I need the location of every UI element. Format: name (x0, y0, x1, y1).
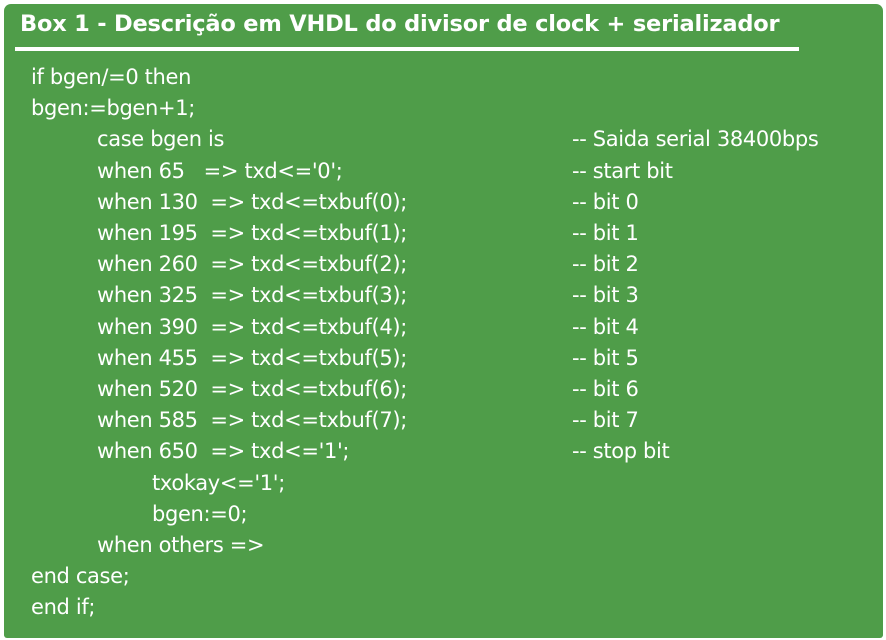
code-line: case bgen is-- Saida serial 38400bps (4, 124, 883, 155)
code-line-text: if bgen/=0 then (31, 62, 191, 93)
code-line-text: end case; (31, 561, 129, 592)
code-line-comment: -- bit 4 (572, 312, 638, 343)
code-line-comment: -- bit 7 (572, 405, 638, 436)
code-line-text: when 650 => txd<='1'; (97, 436, 349, 467)
code-line: when 650 => txd<='1';-- stop bit (4, 436, 883, 467)
code-line-comment: -- start bit (572, 156, 673, 187)
code-line-comment: -- bit 5 (572, 343, 638, 374)
code-line: when 260 => txd<=txbuf(2);-- bit 2 (4, 249, 883, 280)
code-line: when 455 => txd<=txbuf(5);-- bit 5 (4, 343, 883, 374)
code-line: when 65 => txd<='0';-- start bit (4, 156, 883, 187)
code-line-comment: -- stop bit (572, 436, 669, 467)
code-line: when 195 => txd<=txbuf(1);-- bit 1 (4, 218, 883, 249)
code-listing: if bgen/=0 thenbgen:=bgen+1;case bgen is… (4, 56, 883, 638)
code-box: Box 1 - Descrição em VHDL do divisor de … (4, 4, 883, 638)
code-line: end if; (4, 592, 883, 623)
code-line-text: txokay<='1'; (152, 468, 285, 499)
code-line-text: when 455 => txd<=txbuf(5); (97, 343, 407, 374)
code-line: when 325 => txd<=txbuf(3);-- bit 3 (4, 280, 883, 311)
code-line-text: bgen:=bgen+1; (31, 93, 195, 124)
code-line-text: case bgen is (97, 124, 224, 155)
box-title: Box 1 - Descrição em VHDL do divisor de … (20, 11, 779, 37)
code-line: if bgen/=0 then (4, 62, 883, 93)
code-line-comment: -- bit 0 (572, 187, 638, 218)
code-line: end case; (4, 561, 883, 592)
code-line: when others => (4, 530, 883, 561)
code-line-text: when 585 => txd<=txbuf(7); (97, 405, 407, 436)
code-line-text: when 260 => txd<=txbuf(2); (97, 249, 407, 280)
code-line-text: when 390 => txd<=txbuf(4); (97, 312, 407, 343)
title-underline-rule (15, 47, 799, 51)
code-line-text: when 195 => txd<=txbuf(1); (97, 218, 407, 249)
code-line-comment: -- bit 1 (572, 218, 638, 249)
code-line-text: when 65 => txd<='0'; (97, 156, 342, 187)
code-line: when 585 => txd<=txbuf(7);-- bit 7 (4, 405, 883, 436)
box-title-bar: Box 1 - Descrição em VHDL do divisor de … (4, 4, 883, 56)
code-line-text: end if; (31, 592, 95, 623)
code-line-comment: -- Saida serial 38400bps (572, 124, 818, 155)
code-line-comment: -- bit 2 (572, 249, 638, 280)
code-line-text: bgen:=0; (152, 499, 247, 530)
code-line: txokay<='1'; (4, 468, 883, 499)
code-line: when 520 => txd<=txbuf(6);-- bit 6 (4, 374, 883, 405)
code-line: bgen:=0; (4, 499, 883, 530)
code-line-text: when 325 => txd<=txbuf(3); (97, 280, 407, 311)
code-line-text: when others => (97, 530, 264, 561)
code-line-text: when 130 => txd<=txbuf(0); (97, 187, 407, 218)
code-line-text: when 520 => txd<=txbuf(6); (97, 374, 407, 405)
code-line-comment: -- bit 3 (572, 280, 638, 311)
code-line-comment: -- bit 6 (572, 374, 638, 405)
code-line: when 130 => txd<=txbuf(0);-- bit 0 (4, 187, 883, 218)
code-line: when 390 => txd<=txbuf(4);-- bit 4 (4, 312, 883, 343)
code-line: bgen:=bgen+1; (4, 93, 883, 124)
